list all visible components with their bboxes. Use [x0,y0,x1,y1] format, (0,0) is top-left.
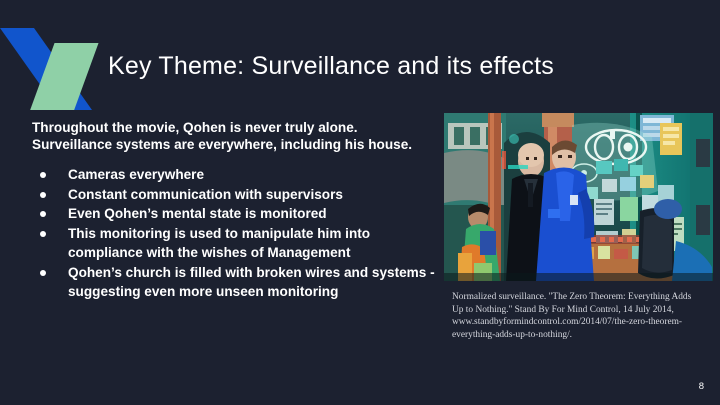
list-item: This monitoring is used to manipulate hi… [32,224,437,263]
presentation-slide: Key Theme: Surveillance and its effects … [0,0,720,405]
list-item-label: This monitoring is used to manipulate hi… [68,226,370,261]
list-item-label: Qohen’s church is filled with broken wir… [68,265,435,300]
list-item: Qohen’s church is filled with broken wir… [32,263,437,302]
bullet-dot-icon [40,172,46,178]
list-item-label: Constant communication with supervisors [68,187,343,202]
bullet-dot-icon [40,231,46,237]
bullet-dot-icon [40,270,46,276]
list-item-label: Even Qohen’s mental state is monitored [68,206,327,221]
brand-logo [0,28,112,110]
bullet-dot-icon [40,211,46,217]
page-number: 8 [699,381,704,392]
bullet-list: Cameras everywhere Constant communicatio… [32,165,437,302]
list-item: Cameras everywhere [32,165,437,185]
page-title: Key Theme: Surveillance and its effects [108,52,554,81]
list-item: Even Qohen’s mental state is monitored [32,204,437,224]
body-content: Throughout the movie, Qohen is never tru… [32,120,437,302]
list-item: Constant communication with supervisors [32,185,437,205]
lead-paragraph: Throughout the movie, Qohen is never tru… [32,120,437,153]
list-item-label: Cameras everywhere [68,167,204,182]
bullet-dot-icon [40,192,46,198]
figure-caption: Normalized surveillance. "The Zero Theor… [452,291,704,341]
film-still-image [444,113,713,281]
